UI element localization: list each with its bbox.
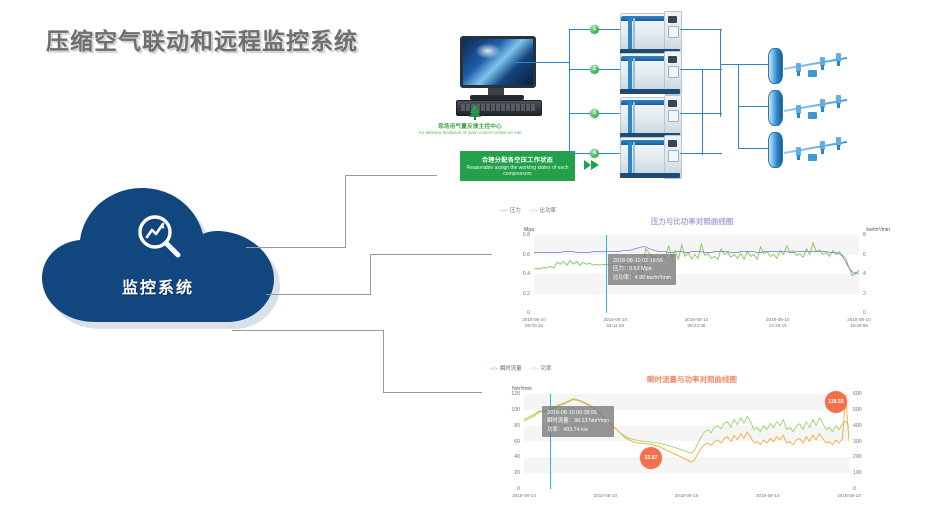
chart1-legend[interactable]: -○-压力-○-比功率 — [498, 206, 563, 214]
legend-item-0[interactable]: -○-压力 — [498, 206, 521, 214]
y-tick: 0 — [482, 486, 520, 492]
y-tick: 0 — [492, 310, 530, 316]
flow-power-chart[interactable]: -○-瞬时流量-○-功率 瞬时流量与功率对照曲线图 Nm³/min 120100… — [482, 362, 894, 522]
chart2-legend[interactable]: -○-瞬时流量-○-功率 — [488, 364, 558, 372]
y-tick-right: 0 — [863, 310, 866, 316]
connector-line-1a — [246, 247, 346, 249]
tooltip-line1: 压力：0.63 Mpa — [613, 265, 671, 273]
air-compressor-3[interactable] — [620, 95, 680, 137]
air-compressor-4[interactable] — [620, 135, 680, 177]
y-tick: 80 — [482, 423, 520, 429]
connector-line-1b — [345, 175, 347, 248]
chart2-tooltip: 2018-08-10 00:38:55瞬时流量：98.13 Nm³/min功率：… — [542, 406, 614, 437]
pipe-out-3 — [680, 113, 722, 114]
y-tick-right: 500 — [853, 407, 862, 413]
tooltip-line2: 功率：493.74 kw — [547, 426, 609, 434]
air-compressor-2[interactable] — [620, 51, 680, 93]
connector-line-3c — [383, 392, 495, 394]
connector-line-2a — [266, 294, 371, 296]
pipe-to-tank-1 — [720, 64, 768, 65]
chart-series-svg — [534, 235, 859, 313]
x-tick: 2018-08-10 — [577, 493, 633, 499]
legend-label-0: 压力 — [510, 208, 521, 214]
y-tick-right: 0 — [853, 486, 856, 492]
y-tick-right: 6 — [863, 252, 866, 258]
status-node-4[interactable]: 4 — [590, 149, 599, 158]
chart1-tooltip: 2018-08-10 02:19:55压力：0.63 Mpa比功率：4.99 k… — [608, 254, 676, 285]
y-tick: 0.2 — [492, 291, 530, 297]
legend-item-1[interactable]: -○-功率 — [529, 364, 552, 372]
chart1-ylabel-right: kw/m³/min — [866, 227, 890, 233]
pipe-to-tank-3 — [738, 148, 768, 149]
magnifier-chart-icon — [132, 210, 188, 266]
status-banner-en: Reasonable assign the working states of … — [466, 165, 569, 178]
pipe-out-1 — [680, 29, 722, 30]
y-tick: 0.4 — [492, 271, 530, 277]
pipe-trunk-vertical — [569, 29, 570, 154]
chart-marker-0[interactable]: 33.87 — [635, 442, 666, 473]
legend-label-0: 瞬时流量 — [500, 366, 522, 372]
page-title: 压缩空气联动和远程监控系统 — [46, 22, 358, 56]
system-architecture-diagram: 现场用气量反馈主控中心 Air delivery feedback of mai… — [432, 18, 937, 203]
chart2-title: 瞬时流量与功率对照曲线图 — [582, 374, 802, 385]
x-tick: 2018-08-1012:35:15 — [750, 317, 806, 329]
tree-icon — [468, 104, 482, 120]
connector-line-1c — [345, 175, 437, 177]
y-tick-right: 300 — [853, 439, 862, 445]
x-tick: 2018-08-1016:46:55 — [831, 317, 887, 329]
y-tick-right: 2 — [863, 291, 866, 297]
status-node-3[interactable]: 3 — [590, 109, 599, 118]
y-tick-right: 8 — [863, 232, 866, 238]
status-banner-zh: 合理分配各空压工作状态 — [460, 155, 575, 164]
y-tick: 20 — [482, 470, 520, 476]
legend-label-1: 比功率 — [540, 208, 556, 214]
x-tick: 2018-08-10 — [740, 493, 796, 499]
pipe-out-4 — [680, 153, 722, 154]
x-tick: 2018-08-1004:11:55 — [587, 317, 643, 329]
connector-line-2c — [370, 254, 500, 256]
y-tick: 0.6 — [492, 252, 530, 258]
chart-marker-label-1: 118.55 — [825, 391, 847, 413]
y-tick: 40 — [482, 454, 520, 460]
pressure-power-chart[interactable]: -○-压力-○-比功率 压力与比功率对照曲线图 Mpa kw/m³/min 0.… — [492, 202, 892, 337]
right-arrow-icon — [584, 158, 600, 172]
y-tick-right: 400 — [853, 423, 862, 429]
x-tick: 2018-08-1000:00:15 — [506, 317, 562, 329]
legend-marker-0: -○- — [488, 366, 500, 372]
tooltip-line2: 比功率：4.99 kw/m³/min — [613, 274, 671, 282]
legend-marker-0: -○- — [498, 208, 510, 214]
y-tick: 0.8 — [492, 232, 530, 238]
y-tick-right: 600 — [853, 391, 862, 397]
pipe-monitor-to-bus — [514, 62, 570, 63]
chart-marker-1[interactable]: 118.55 — [820, 386, 851, 417]
connector-line-3b — [383, 330, 385, 393]
tooltip-time: 2018-08-10 00:38:55 — [547, 409, 609, 417]
chart-marker-label-0: 33.87 — [640, 447, 662, 469]
air-compressor-1[interactable] — [620, 11, 680, 53]
status-node-2[interactable]: 2 — [590, 65, 599, 74]
y-tick: 100 — [482, 407, 520, 413]
legend-item-1[interactable]: -○-比功率 — [528, 206, 556, 214]
connector-line-2b — [370, 254, 372, 295]
pipe-collector-a — [720, 29, 721, 117]
monitor-caption-zh: 现场用气量反馈主控中心 — [410, 122, 530, 130]
x-tick: 2018-08-10 — [821, 493, 877, 499]
y-tick: 120 — [482, 391, 520, 397]
legend-label-1: 功率 — [541, 366, 552, 372]
status-banner: 合理分配各空压工作状态 Reasonable assign the workin… — [460, 151, 575, 181]
pipe-collector-b — [702, 69, 703, 155]
legend-item-0[interactable]: -○-瞬时流量 — [488, 364, 522, 372]
tooltip-time: 2018-08-10 02:19:55 — [613, 257, 671, 265]
y-tick-right: 4 — [863, 271, 866, 277]
monitor-caption-en: Air delivery feedback of main control ce… — [410, 130, 530, 136]
chart1-plot-area[interactable] — [534, 235, 859, 313]
monitoring-cloud[interactable]: 监控系统 — [36, 182, 286, 332]
chart-cursor-line[interactable] — [606, 235, 607, 313]
chart1-title: 压力与比功率对照曲线图 — [582, 216, 802, 227]
x-tick: 2018-08-1008:23:35 — [669, 317, 725, 329]
pipe-out-2 — [680, 69, 722, 70]
y-tick: 60 — [482, 439, 520, 445]
tooltip-line1: 瞬时流量：98.13 Nm³/min — [547, 417, 609, 425]
x-tick: 2018-08-10 — [659, 493, 715, 499]
pipe-to-tank-2 — [738, 106, 768, 107]
legend-marker-1: -○- — [528, 208, 540, 214]
x-tick: 2018-08-10 — [496, 493, 552, 499]
legend-marker-1: -○- — [529, 366, 541, 372]
cloud-label: 监控系统 — [36, 274, 280, 298]
connector-line-3a — [232, 330, 384, 332]
status-node-1[interactable]: 1 — [590, 25, 599, 34]
y-tick-right: 100 — [853, 470, 862, 476]
y-tick-right: 200 — [853, 454, 862, 460]
